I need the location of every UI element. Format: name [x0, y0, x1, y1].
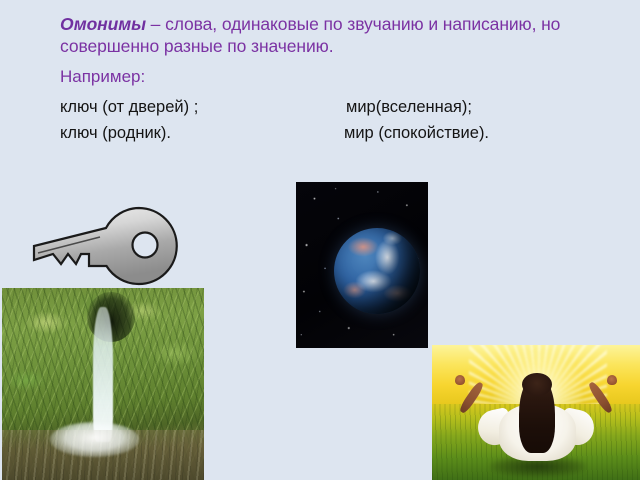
woman-head	[522, 373, 551, 396]
woman-hand-left	[455, 375, 465, 386]
woman-hand-right	[607, 375, 617, 386]
earth-terminator	[334, 228, 420, 314]
spring-photo	[2, 288, 204, 480]
woman-figure	[432, 345, 640, 480]
peace-photo	[432, 345, 640, 480]
presentation-slide: Омонимы – слова, одинаковые по звучанию …	[0, 0, 640, 480]
pair-right-mir-vselennaya: мир(вселенная);	[346, 97, 472, 118]
pair-left-kluch-dver: ключ (от дверей) ;	[60, 97, 198, 118]
key-icon	[26, 198, 186, 294]
definition-paragraph: Омонимы – слова, одинаковые по звучанию …	[60, 14, 585, 57]
example-label: Например:	[60, 66, 585, 87]
pair-right-mir-spokoystvie: мир (спокойствие).	[344, 123, 489, 144]
slide-text-block: Омонимы – слова, одинаковые по звучанию …	[60, 14, 585, 149]
earth-photo	[296, 182, 428, 348]
word-pair-row: ключ (родник). мир (спокойствие).	[60, 123, 585, 149]
term-omonimy: Омонимы	[60, 14, 146, 34]
earth-globe	[334, 228, 420, 314]
word-pair-row: ключ (от дверей) ; мир(вселенная);	[60, 97, 585, 123]
woman-arm-left	[458, 381, 485, 415]
pair-left-kluch-rodnik: ключ (родник).	[60, 123, 171, 144]
woman-arm-right	[587, 381, 614, 415]
spring-splash	[50, 422, 139, 457]
